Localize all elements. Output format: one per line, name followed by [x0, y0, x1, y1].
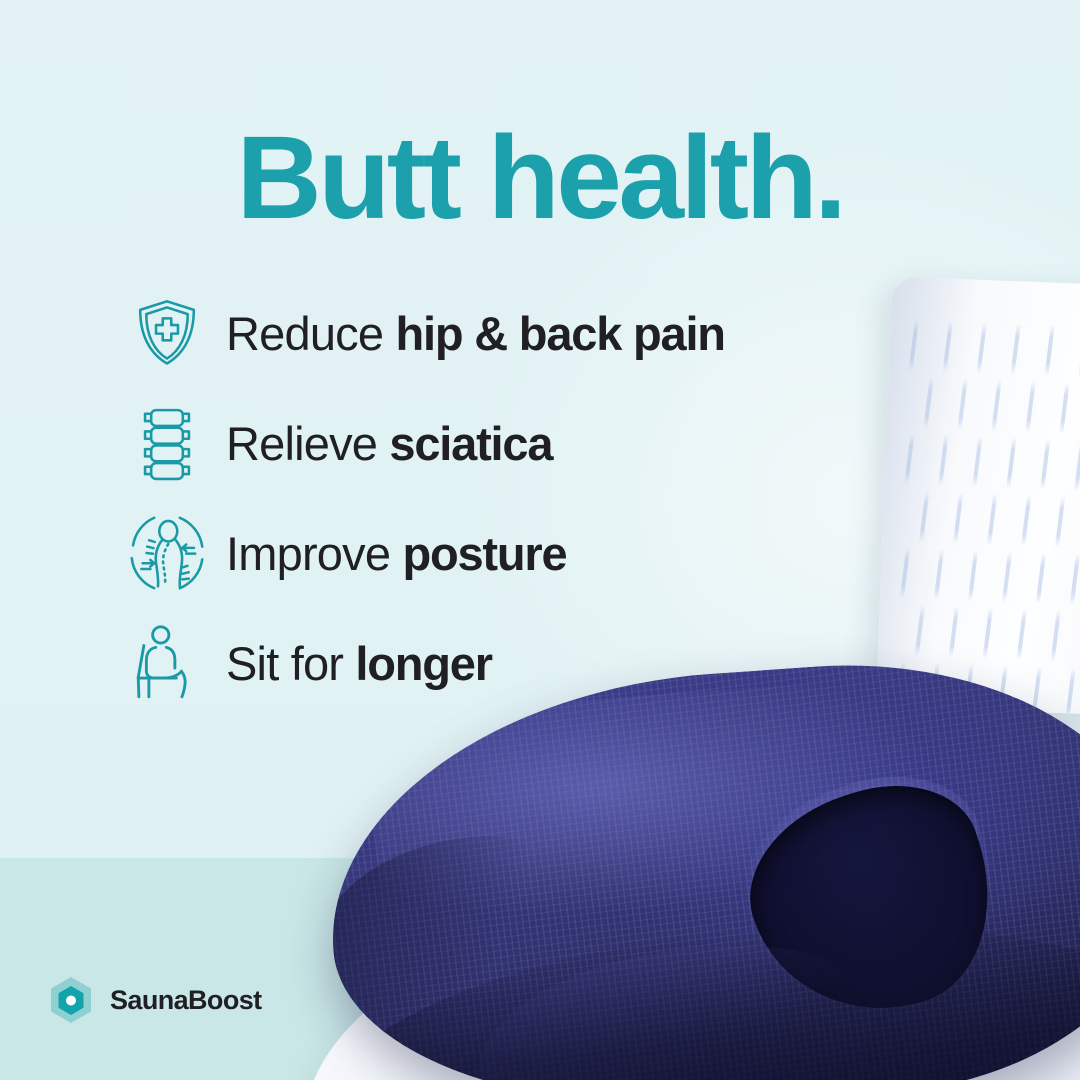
- benefit-label-prefix: Reduce: [226, 307, 395, 360]
- benefit-item-sit-longer: Sit for longer: [124, 608, 904, 718]
- benefit-label-strong: longer: [355, 637, 491, 690]
- benefit-label-strong: posture: [402, 527, 566, 580]
- person-sitting-chair-icon: [124, 620, 210, 706]
- benefit-label: Reduce hip & back pain: [226, 310, 725, 357]
- page-title: Butt health.: [0, 118, 1080, 238]
- benefit-label: Relieve sciatica: [226, 420, 552, 467]
- posture-spine-circle-icon: [124, 510, 210, 596]
- brand-logo[interactable]: SaunaBoost: [46, 975, 262, 1025]
- spine-vertebrae-icon: [124, 400, 210, 486]
- shield-cross-icon: [124, 290, 210, 376]
- benefit-label-prefix: Sit for: [226, 637, 355, 690]
- benefit-label-prefix: Improve: [226, 527, 402, 580]
- hexagon-dot-icon: [46, 975, 96, 1025]
- benefit-item-hip-back-pain: Reduce hip & back pain: [124, 278, 904, 388]
- benefit-label-strong: hip & back pain: [395, 307, 724, 360]
- background-bottom-sheen: [0, 858, 1080, 1080]
- benefit-label-strong: sciatica: [389, 417, 552, 470]
- benefit-label: Improve posture: [226, 530, 566, 577]
- brand-name: SaunaBoost: [110, 985, 262, 1016]
- benefit-label-prefix: Relieve: [226, 417, 389, 470]
- promo-graphic: Butt health. Reduce hip & back pain: [0, 0, 1080, 1080]
- benefit-item-sciatica: Relieve sciatica: [124, 388, 904, 498]
- benefit-label: Sit for longer: [226, 640, 492, 687]
- benefit-list: Reduce hip & back pain: [124, 278, 904, 718]
- benefit-item-posture: Improve posture: [124, 498, 904, 608]
